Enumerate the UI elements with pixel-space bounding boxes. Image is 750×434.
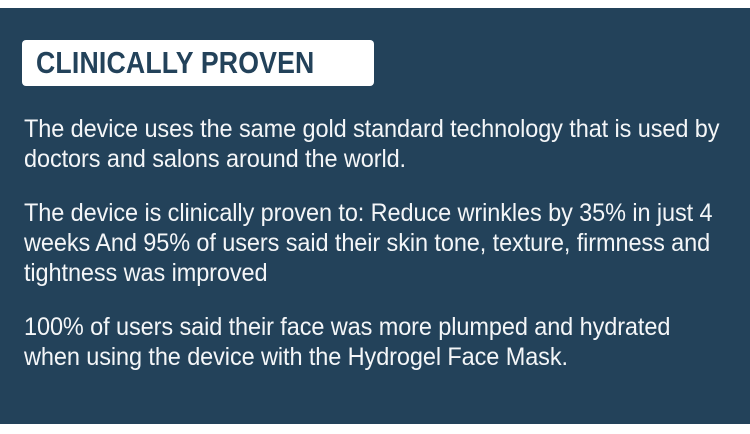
clinically-proven-promo-card: CLINICALLY PROVEN The device uses the sa…	[0, 0, 750, 434]
promo-body-copy: The device uses the same gold standard t…	[24, 114, 732, 372]
badge-label: CLINICALLY PROVEN	[36, 47, 314, 78]
body-paragraph-clinical-results: The device is clinically proven to: Redu…	[24, 198, 731, 288]
body-paragraph-hydrogel-mask: 100% of users said their face was more p…	[24, 312, 731, 372]
promo-panel: CLINICALLY PROVEN The device uses the sa…	[0, 8, 750, 424]
body-paragraph-technology: The device uses the same gold standard t…	[24, 114, 731, 174]
clinically-proven-badge: CLINICALLY PROVEN	[22, 40, 374, 86]
